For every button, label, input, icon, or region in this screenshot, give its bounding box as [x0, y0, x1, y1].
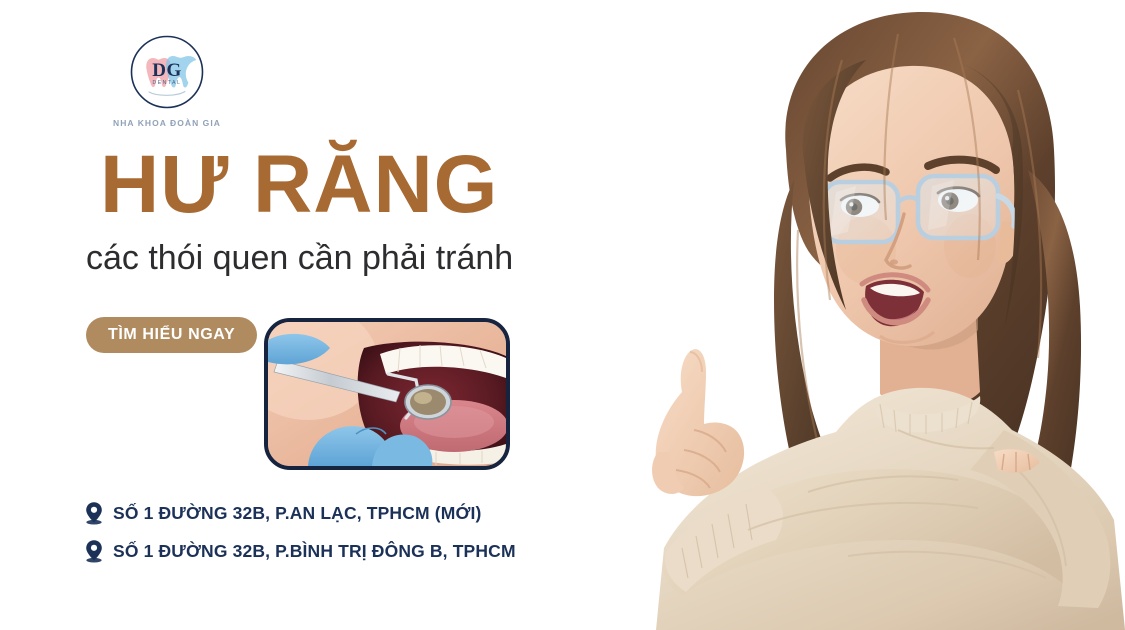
brand-logo-block[interactable]: DG DENTAL NHA KHOA ĐOÀN GIA — [72, 34, 262, 128]
address-row[interactable]: SỐ 1 ĐƯỜNG 32B, P.BÌNH TRỊ ĐÔNG B, TPHCM — [84, 532, 604, 570]
address-text: SỐ 1 ĐƯỜNG 32B, P.BÌNH TRỊ ĐÔNG B, TPHCM — [113, 541, 516, 562]
hero-headline: HƯ RĂNG — [100, 144, 498, 226]
location-pin-icon — [84, 539, 104, 563]
dental-promo-banner: DG DENTAL NHA KHOA ĐOÀN GIA HƯ RĂNG các … — [0, 0, 1125, 630]
dental-tooth-circle-logo-icon: DG DENTAL — [129, 34, 205, 110]
left-content-column: DG DENTAL NHA KHOA ĐOÀN GIA HƯ RĂNG các … — [0, 0, 620, 630]
svg-text:DG: DG — [152, 60, 182, 81]
svg-text:DENTAL: DENTAL — [153, 80, 182, 86]
address-text: SỐ 1 ĐƯỜNG 32B, P.AN LẠC, TPHCM (MỚI) — [113, 503, 482, 524]
surprised-woman-pointing-photo — [598, 0, 1125, 630]
hero-subheadline: các thói quen cần phải tránh — [86, 240, 513, 277]
learn-more-button[interactable]: TÌM HIỂU NGAY — [86, 317, 257, 353]
clinic-name-caption: NHA KHOA ĐOÀN GIA — [72, 118, 262, 128]
dental-examination-photo — [264, 318, 510, 470]
location-pin-icon — [84, 501, 104, 525]
address-list: SỐ 1 ĐƯỜNG 32B, P.AN LẠC, TPHCM (MỚI) SỐ… — [84, 494, 604, 570]
address-row[interactable]: SỐ 1 ĐƯỜNG 32B, P.AN LẠC, TPHCM (MỚI) — [84, 494, 604, 532]
